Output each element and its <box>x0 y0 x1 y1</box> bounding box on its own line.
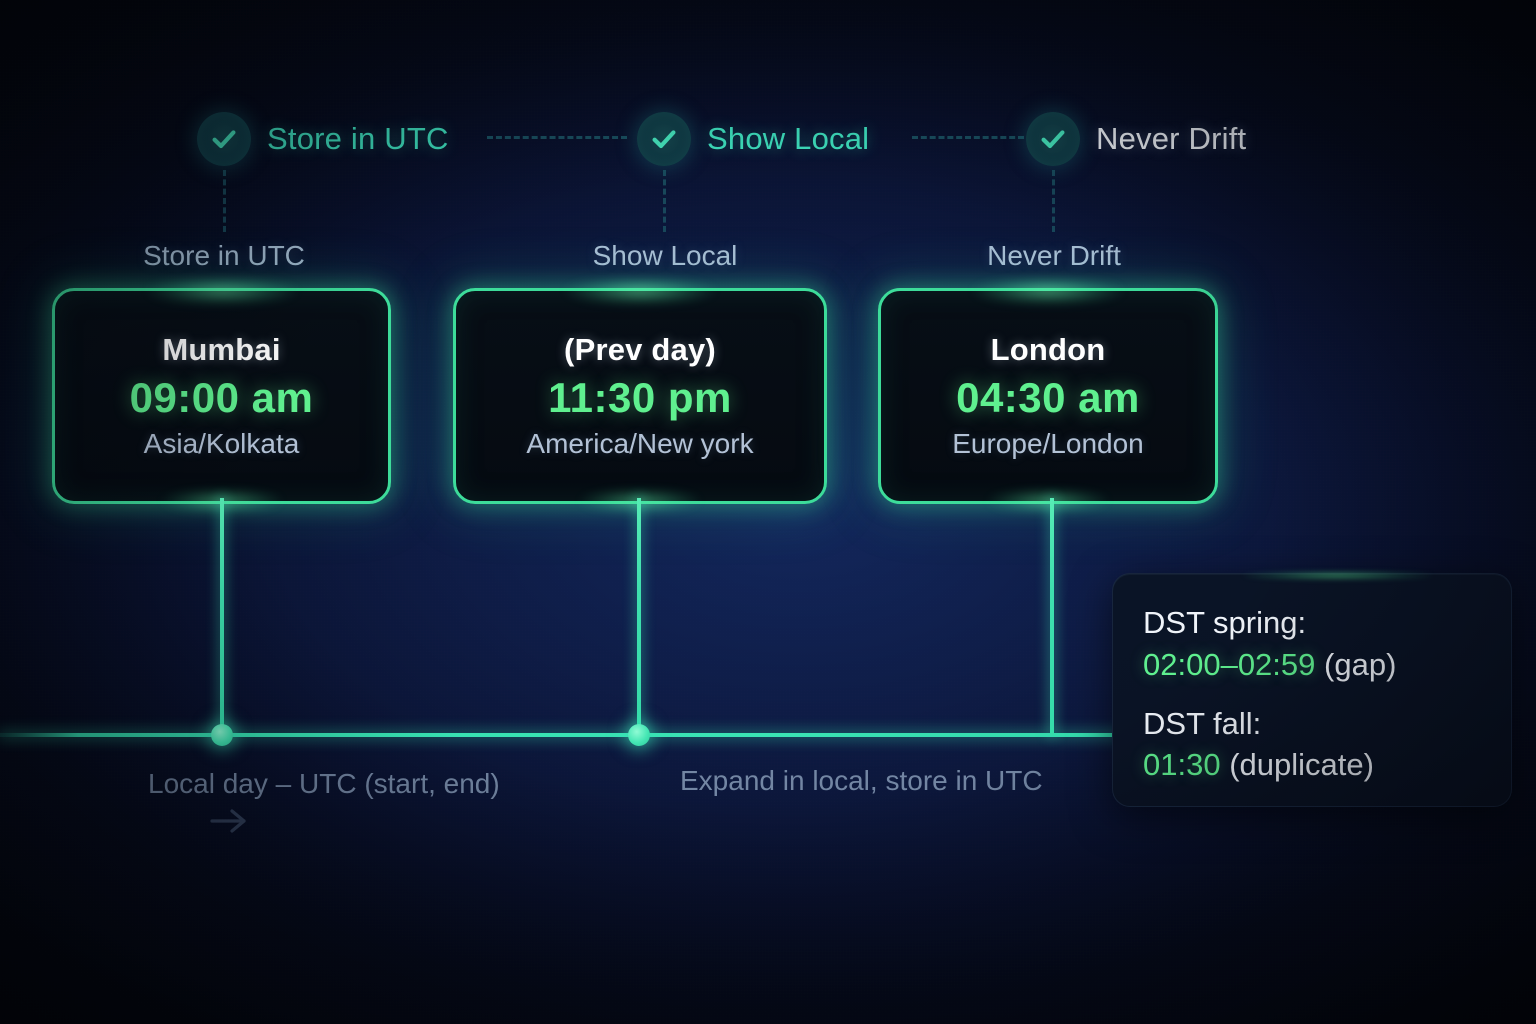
dst-fall-time: 01:30 <box>1143 747 1221 782</box>
card-city: Mumbai <box>162 332 280 368</box>
timeline-caption-right: Expand in local, store in UTC <box>680 765 1043 797</box>
dst-fall-value: 01:30 (duplicate) <box>1143 744 1511 787</box>
card-timezone: Europe/London <box>952 428 1144 460</box>
card-glow-bottom <box>988 490 1108 512</box>
dst-spring-range: 02:00–02:59 <box>1143 647 1315 682</box>
badge-label: Store in UTC <box>267 121 449 157</box>
dst-info-panel[interactable]: DST spring: 02:00–02:59 (gap) DST fall: … <box>1112 573 1512 807</box>
check-icon <box>1026 112 1080 166</box>
dst-spring-value: 02:00–02:59 (gap) <box>1143 644 1511 687</box>
dst-fall-row: DST fall: 01:30 (duplicate) <box>1143 703 1511 788</box>
badge-store-in-utc[interactable]: Store in UTC <box>197 108 449 170</box>
timezone-card-new-york[interactable]: (Prev day) 11:30 pm America/New york <box>453 288 827 504</box>
badge-row: Store in UTC Show Local Never Drift <box>0 108 1536 170</box>
dst-spring-note: (gap) <box>1324 647 1396 682</box>
badge-drop-line-2 <box>663 170 669 232</box>
card-glow-top <box>565 278 715 304</box>
badge-drop-line-1 <box>223 170 229 232</box>
badge-never-drift[interactable]: Never Drift <box>1026 108 1246 170</box>
card-caption-2: Show Local <box>593 240 738 272</box>
dst-panel-divider <box>1143 689 1511 703</box>
timeline-axis <box>0 733 1120 737</box>
timeline-node-mumbai[interactable] <box>211 724 233 746</box>
dst-spring-title: DST spring: <box>1143 602 1511 644</box>
card-caption-3: Never Drift <box>987 240 1121 272</box>
check-icon <box>637 112 691 166</box>
timeline-stem-mumbai <box>220 498 224 735</box>
diagram-canvas: Store in UTC Show Local Never Drift Stor… <box>0 0 1536 1024</box>
card-glow-top <box>147 278 297 304</box>
dst-fall-title: DST fall: <box>1143 703 1511 745</box>
check-icon <box>197 112 251 166</box>
badge-drop-line-3 <box>1052 170 1058 232</box>
dst-fall-note: (duplicate) <box>1229 747 1374 782</box>
badge-label: Show Local <box>707 121 869 157</box>
card-time: 11:30 pm <box>548 374 732 422</box>
badge-label: Never Drift <box>1096 121 1246 157</box>
badge-show-local[interactable]: Show Local <box>637 108 869 170</box>
timezone-card-london[interactable]: London 04:30 am Europe/London <box>878 288 1218 504</box>
dst-panel-glow <box>1243 572 1433 579</box>
timeline-node-new-york[interactable] <box>628 724 650 746</box>
card-glow-top <box>973 278 1123 304</box>
timezone-card-mumbai[interactable]: Mumbai 09:00 am Asia/Kolkata <box>52 288 391 504</box>
arrow-right-icon <box>206 805 254 842</box>
card-timezone: Asia/Kolkata <box>144 428 300 460</box>
timeline-stem-new-york <box>637 498 641 735</box>
card-city: (Prev day) <box>564 332 716 368</box>
dst-spring-row: DST spring: 02:00–02:59 (gap) <box>1143 602 1511 687</box>
card-caption-1: Store in UTC <box>143 240 305 272</box>
card-city: London <box>991 332 1106 368</box>
timeline-caption-left: Local day – UTC (start, end) <box>148 768 500 800</box>
card-timezone: America/New york <box>526 428 753 460</box>
timeline-stem-london <box>1050 498 1054 735</box>
card-time: 04:30 am <box>956 374 1140 422</box>
card-time: 09:00 am <box>130 374 314 422</box>
